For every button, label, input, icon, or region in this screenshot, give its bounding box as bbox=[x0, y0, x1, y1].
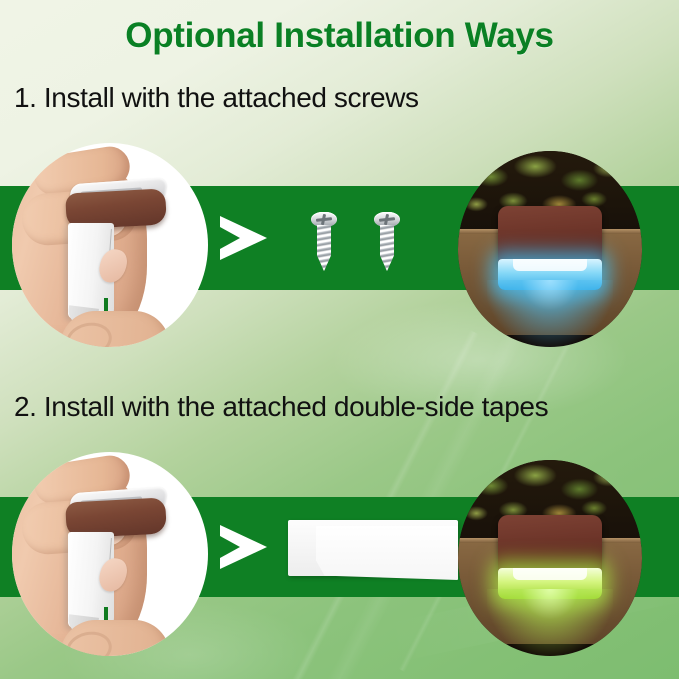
page-title: Optional Installation Ways bbox=[0, 16, 679, 56]
night-scene bbox=[458, 460, 642, 656]
step-1-heading: 1. Install with the attached screws bbox=[14, 82, 419, 114]
arrow-right-icon bbox=[220, 216, 267, 260]
screw-head bbox=[374, 212, 400, 227]
hand-product-scene bbox=[12, 452, 208, 656]
step-2-heading: 2. Install with the attached double-side… bbox=[14, 391, 548, 423]
double-side-tape-icon bbox=[288, 518, 458, 580]
night-scene bbox=[458, 151, 642, 347]
step-1-installed-photo bbox=[458, 151, 642, 347]
arrow-right-icon bbox=[220, 525, 267, 569]
light-beam-green bbox=[487, 589, 612, 656]
installation-infographic: Optional Installation Ways 1. Install wi… bbox=[0, 0, 679, 679]
light-housing bbox=[498, 515, 601, 574]
screw-icon bbox=[311, 212, 337, 270]
step-1-hand-photo bbox=[12, 143, 208, 347]
screw-shaft bbox=[317, 225, 331, 271]
hand-product-scene bbox=[12, 143, 208, 347]
screw-icon bbox=[374, 212, 400, 270]
light-housing bbox=[498, 206, 601, 265]
light-beam-blue bbox=[487, 280, 612, 347]
step-2-installed-photo bbox=[458, 460, 642, 656]
screw-shaft bbox=[380, 225, 394, 271]
tape-strip-front bbox=[316, 526, 458, 580]
step-2-hand-photo bbox=[12, 452, 208, 656]
screw-head bbox=[311, 212, 337, 227]
